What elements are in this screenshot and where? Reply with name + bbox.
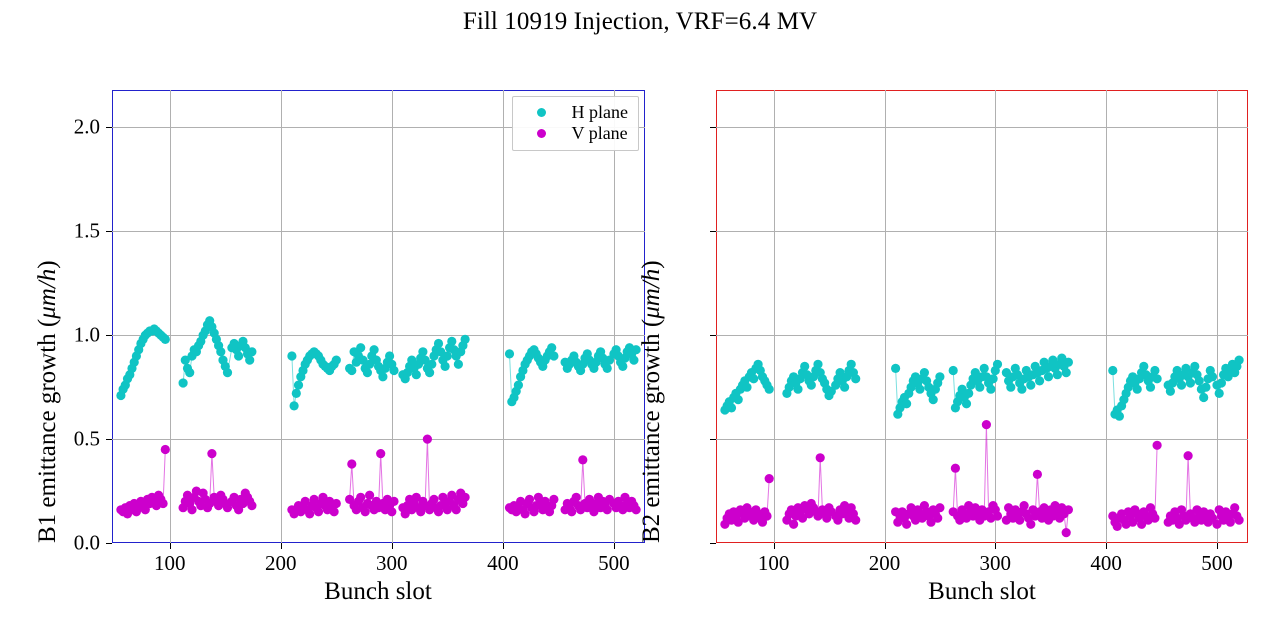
data-point <box>727 403 736 412</box>
series-v-plane <box>116 435 640 519</box>
data-point <box>603 505 612 514</box>
y-tick-mark <box>710 543 716 544</box>
legend-label-v-plane: V plane <box>572 123 628 144</box>
data-point <box>216 347 225 356</box>
figure-root: Fill 10919 Injection, VRF=6.4 MV H plane… <box>0 0 1280 640</box>
x-tick-label: 100 <box>758 551 790 576</box>
data-point <box>1195 376 1204 385</box>
legend-label-h-plane: H plane <box>572 102 628 123</box>
data-point <box>1235 356 1244 365</box>
data-point <box>964 389 973 398</box>
x-tick-mark <box>1106 543 1107 549</box>
data-point <box>1215 389 1224 398</box>
series-h-plane <box>116 316 640 410</box>
data-point <box>734 395 743 404</box>
data-point <box>1153 374 1162 383</box>
data-point <box>1064 505 1073 514</box>
series-h-plane <box>720 354 1243 421</box>
x-tick-mark <box>774 543 775 549</box>
legend-item-v-plane: V plane <box>523 123 628 144</box>
data-point <box>461 335 470 344</box>
data-point <box>982 420 991 429</box>
data-point <box>851 374 860 383</box>
data-point <box>742 383 751 392</box>
data-point <box>1177 381 1186 390</box>
data-point <box>891 364 900 373</box>
data-point <box>412 370 421 379</box>
data-point <box>1033 470 1042 479</box>
data-point <box>234 351 243 360</box>
x-tick-label: 100 <box>154 551 186 576</box>
data-point <box>332 499 341 508</box>
data-point <box>378 372 387 381</box>
x-tick-mark <box>995 543 996 549</box>
data-point <box>933 514 942 523</box>
y-tick-mark <box>106 127 112 128</box>
panel-b2-y-axis-label: B2 emittance growth (μm/h) <box>638 260 666 543</box>
x-tick-label: 200 <box>869 551 901 576</box>
x-tick-label: 200 <box>265 551 297 576</box>
data-point <box>441 362 450 371</box>
y-tick-mark <box>106 543 112 544</box>
y-tick-mark <box>710 127 716 128</box>
data-point <box>1150 366 1159 375</box>
data-point <box>434 339 443 348</box>
data-point <box>935 503 944 512</box>
panel-b2-x-axis-label: Bunch slot <box>928 578 1036 606</box>
data-point <box>443 351 452 360</box>
data-point <box>935 372 944 381</box>
data-point <box>514 381 523 390</box>
data-point <box>461 493 470 502</box>
data-point <box>1133 385 1142 394</box>
data-point <box>418 347 427 356</box>
data-point <box>1139 362 1148 371</box>
data-point <box>749 374 758 383</box>
data-point <box>292 389 301 398</box>
data-point <box>287 351 296 360</box>
data-point <box>986 385 995 394</box>
data-point <box>547 343 556 352</box>
data-point <box>962 399 971 408</box>
data-point <box>185 368 194 377</box>
x-tick-mark <box>392 543 393 549</box>
legend: H plane V plane <box>512 96 639 151</box>
data-point <box>1026 520 1035 529</box>
data-point <box>847 360 856 369</box>
data-point <box>452 505 461 514</box>
x-tick-mark <box>1217 543 1218 549</box>
data-point <box>1201 383 1210 392</box>
data-point <box>245 356 254 365</box>
y-tick-label: 1.0 <box>74 323 100 348</box>
data-point <box>920 368 929 377</box>
data-point <box>1150 514 1159 523</box>
x-tick-mark <box>170 543 171 549</box>
data-point <box>330 507 339 516</box>
data-point <box>187 505 196 514</box>
data-point <box>572 493 581 502</box>
data-point <box>765 385 774 394</box>
x-tick-label: 500 <box>1201 551 1233 576</box>
panel-b2-plot-area <box>716 90 1248 543</box>
data-point <box>1184 451 1193 460</box>
data-point <box>929 395 938 404</box>
data-point <box>505 349 514 358</box>
data-point <box>989 374 998 383</box>
y-tick-mark <box>106 231 112 232</box>
x-tick-label: 300 <box>980 551 1012 576</box>
data-point <box>902 399 911 408</box>
data-point <box>447 337 456 346</box>
data-point <box>363 368 372 377</box>
legend-marker-v-plane <box>537 129 546 138</box>
data-point <box>603 364 612 373</box>
data-point <box>1053 370 1062 379</box>
data-point <box>762 511 771 520</box>
y-tick-label: 0.5 <box>74 427 100 452</box>
data-point <box>1190 362 1199 371</box>
x-tick-label: 400 <box>487 551 519 576</box>
data-point <box>1146 383 1155 392</box>
data-point <box>161 335 170 344</box>
data-point <box>1235 516 1244 525</box>
data-point <box>993 360 1002 369</box>
data-point <box>549 351 558 360</box>
x-tick-label: 400 <box>1090 551 1122 576</box>
data-point <box>389 366 398 375</box>
data-point <box>425 368 434 377</box>
data-point <box>161 445 170 454</box>
data-point <box>902 520 911 529</box>
data-point <box>1044 372 1053 381</box>
panel-b2 <box>716 90 1248 543</box>
data-point <box>1062 528 1071 537</box>
series-v-plane <box>720 420 1243 537</box>
y-tick-label: 1.5 <box>74 219 100 244</box>
data-point <box>159 499 168 508</box>
data-point <box>370 345 379 354</box>
data-point <box>1208 372 1217 381</box>
data-point <box>1115 412 1124 421</box>
x-tick-label: 500 <box>598 551 630 576</box>
data-point <box>1230 503 1239 512</box>
data-point <box>793 385 802 394</box>
panel-b1-plot-area <box>112 90 645 543</box>
data-point <box>1186 378 1195 387</box>
x-tick-mark <box>281 543 282 549</box>
data-point <box>376 449 385 458</box>
data-point <box>1020 501 1029 510</box>
data-point <box>389 497 398 506</box>
x-tick-mark <box>503 543 504 549</box>
data-point <box>1026 381 1035 390</box>
panel-b1: H plane V plane <box>112 90 645 543</box>
y-tick-mark <box>710 231 716 232</box>
data-point <box>1006 383 1015 392</box>
data-point <box>1166 387 1175 396</box>
data-point <box>1064 358 1073 367</box>
data-point <box>1113 522 1122 531</box>
data-point <box>993 511 1002 520</box>
data-point <box>851 516 860 525</box>
data-point <box>840 383 849 392</box>
data-point <box>789 520 798 529</box>
data-point <box>247 347 256 356</box>
data-point <box>578 455 587 464</box>
data-point <box>549 495 558 504</box>
y-tick-label: 0.0 <box>74 531 100 556</box>
data-point <box>1017 385 1026 394</box>
data-point <box>223 368 232 377</box>
data-point <box>207 449 216 458</box>
data-point <box>290 401 299 410</box>
data-point <box>980 364 989 373</box>
data-point <box>915 385 924 394</box>
data-point <box>1062 368 1071 377</box>
data-point <box>179 378 188 387</box>
data-point <box>427 360 436 369</box>
data-point <box>1199 393 1208 402</box>
y-tick-mark <box>710 439 716 440</box>
panel-b1-x-axis-label: Bunch slot <box>324 578 432 606</box>
data-point <box>807 381 816 390</box>
data-point <box>800 362 809 371</box>
data-point <box>975 383 984 392</box>
data-point <box>332 356 341 365</box>
y-tick-mark <box>710 335 716 336</box>
data-point <box>387 507 396 516</box>
data-point <box>347 459 356 468</box>
data-point <box>949 366 958 375</box>
x-tick-mark <box>614 543 615 549</box>
scatter-series-group <box>716 90 1248 543</box>
data-point <box>813 360 822 369</box>
y-tick-label: 2.0 <box>74 115 100 140</box>
data-point <box>454 360 463 369</box>
data-point <box>1035 376 1044 385</box>
y-tick-mark <box>106 335 112 336</box>
data-point <box>1108 366 1117 375</box>
panel-b1-y-axis-label: B1 emittance growth (μm/h) <box>34 260 62 543</box>
data-point <box>618 362 627 371</box>
legend-marker-h-plane <box>537 108 546 117</box>
scatter-series-group <box>112 90 645 543</box>
data-point <box>247 501 256 510</box>
data-point <box>294 381 303 390</box>
x-tick-label: 300 <box>376 551 408 576</box>
data-point <box>356 343 365 352</box>
figure-title: Fill 10919 Injection, VRF=6.4 MV <box>0 8 1280 36</box>
y-tick-mark <box>106 439 112 440</box>
data-point <box>385 351 394 360</box>
data-point <box>765 474 774 483</box>
x-tick-mark <box>885 543 886 549</box>
data-point <box>1153 441 1162 450</box>
data-point <box>816 453 825 462</box>
data-point <box>951 464 960 473</box>
data-point <box>423 435 432 444</box>
legend-item-h-plane: H plane <box>523 102 628 123</box>
data-point <box>347 366 356 375</box>
